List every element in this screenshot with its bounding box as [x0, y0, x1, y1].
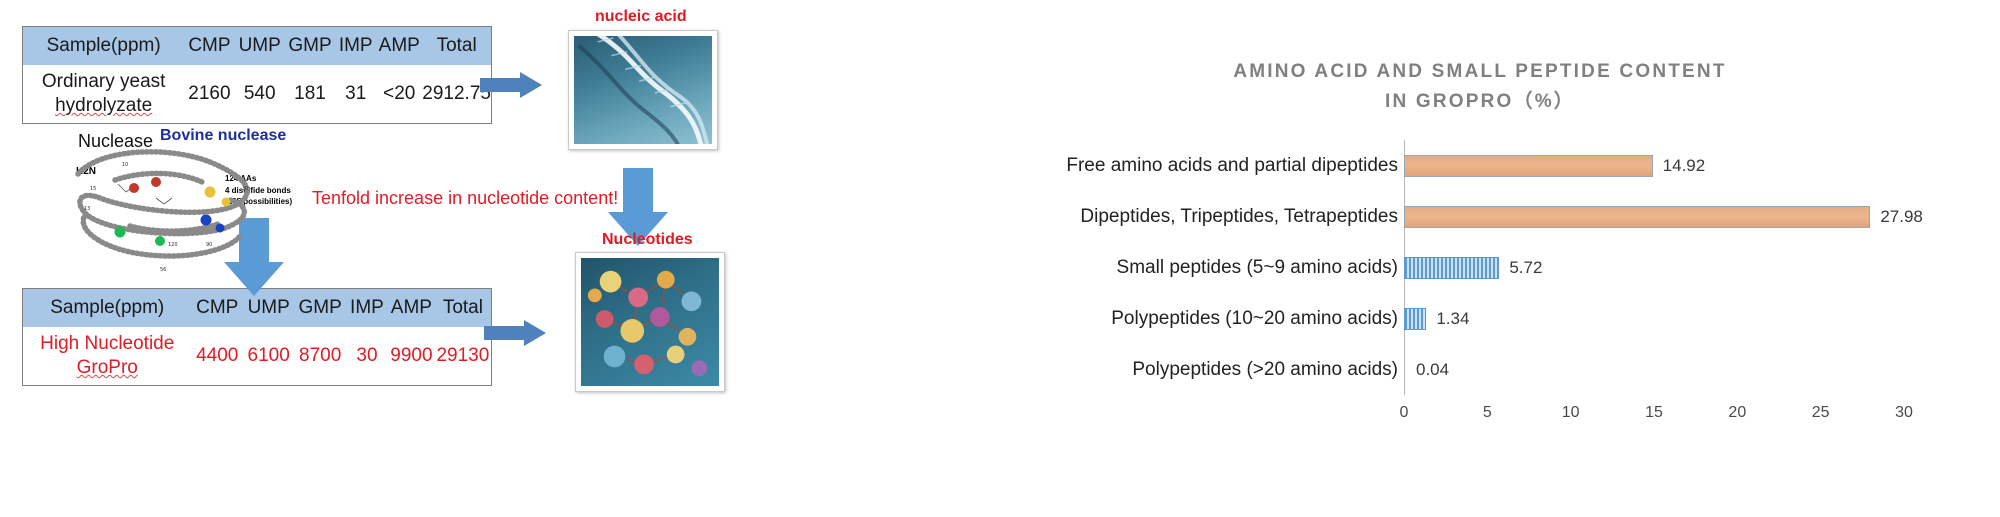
col-header-gmp: GMP	[285, 27, 335, 65]
arrow-head	[520, 72, 542, 98]
bar-row: 27.98	[1404, 191, 2000, 242]
cell-gmp: 181	[285, 65, 335, 123]
left-diagram-panel: Sample(ppm) CMP UMP GMP IMP AMP Total Or…	[0, 0, 960, 517]
chart-title: AMINO ACID AND SMALL PEPTIDE CONTENT IN …	[960, 57, 2000, 118]
svg-text:90: 90	[206, 242, 212, 248]
col-header-ump: UMP	[235, 27, 285, 65]
bar-value-label: 1.34	[1436, 309, 1469, 329]
cell-ump: 540	[235, 65, 285, 123]
cell-gmp: 8700	[294, 327, 345, 385]
cell-cmp: 2160	[184, 65, 234, 123]
label-nucleotides: Nucleotides	[602, 231, 693, 249]
col-header-imp: IMP	[346, 289, 388, 327]
bar-row: 1.34	[1404, 293, 2000, 344]
col-header-amp: AMP	[376, 27, 422, 65]
x-tick-label: 10	[1562, 404, 1580, 422]
dna-helix-image	[568, 30, 718, 150]
svg-text:10: 10	[122, 162, 128, 168]
col-header-gmp: GMP	[294, 289, 345, 327]
nucleotides-image	[575, 252, 725, 392]
nuclease-structure-icon: 10 15 13 120 90 30 56	[60, 140, 290, 275]
bar-row: 5.72	[1404, 242, 2000, 293]
category-label: Polypeptides (10~20 amino acids)	[960, 308, 1398, 330]
dna-helix-icon	[574, 36, 712, 144]
category-axis-labels: Free amino acids and partial dipeptidesD…	[960, 140, 1398, 395]
sample-name-line1: High Nucleotide	[23, 332, 191, 356]
bar-value-label: 5.72	[1509, 258, 1542, 278]
cell-cmp: 4400	[191, 327, 242, 385]
cell-amp: 9900	[388, 327, 435, 385]
cell-ump: 6100	[243, 327, 294, 385]
table-ordinary-yeast-hydrolyzate: Sample(ppm) CMP UMP GMP IMP AMP Total Or…	[22, 26, 492, 124]
table-row: Ordinary yeast hydrolyzate 2160 540 181 …	[23, 65, 491, 123]
cell-sample-name: Ordinary yeast hydrolyzate	[23, 65, 184, 123]
col-header-amp: AMP	[388, 289, 435, 327]
svg-text:13: 13	[84, 206, 90, 212]
col-header-cmp: CMP	[184, 27, 234, 65]
bar-value-label: 0.04	[1416, 360, 1449, 380]
chart-title-line2: IN GROPRO（%）	[960, 87, 2000, 117]
category-label: Polypeptides (>20 amino acids)	[960, 359, 1398, 381]
bar-value-label: 14.92	[1663, 156, 1706, 176]
table-high-nucleotide-gropro: Sample(ppm) CMP UMP GMP IMP AMP Total Hi…	[22, 288, 492, 386]
table-row: High Nucleotide GroPro 4400 6100 8700 30…	[23, 327, 491, 385]
x-tick-label: 15	[1645, 404, 1663, 422]
col-header-sample: Sample(ppm)	[23, 289, 191, 327]
category-label: Small peptides (5~9 amino acids)	[960, 257, 1398, 279]
category-label: Dipeptides, Tripeptides, Tetrapeptides	[960, 206, 1398, 228]
chart-plot-area: Free amino acids and partial dipeptidesD…	[960, 140, 2000, 440]
nucleotides-graphic	[581, 258, 719, 386]
dna-helix-graphic	[574, 36, 712, 144]
col-header-imp: IMP	[335, 27, 376, 65]
col-header-total: Total	[435, 289, 491, 327]
cell-amp: <20	[376, 65, 422, 123]
bar-value-label: 27.98	[1880, 207, 1923, 227]
bar-chart-panel: AMINO ACID AND SMALL PEPTIDE CONTENT IN …	[960, 0, 2000, 517]
bar-row: 14.92	[1404, 140, 2000, 191]
arrow-right-icon	[484, 320, 546, 346]
bar[interactable]	[1404, 257, 1499, 279]
svg-text:30: 30	[242, 186, 248, 192]
bar-row: 0.04	[1404, 344, 2000, 395]
bar[interactable]	[1404, 308, 1426, 330]
x-tick-label: 5	[1483, 404, 1492, 422]
sample-name-line1: Ordinary yeast	[23, 70, 184, 94]
sample-name-line2: GroPro	[23, 356, 191, 380]
col-header-sample: Sample(ppm)	[23, 27, 184, 65]
cell-sample-name: High Nucleotide GroPro	[23, 327, 191, 385]
bars-container: 14.9227.985.721.340.04	[1404, 140, 2000, 395]
x-tick-label: 0	[1400, 404, 1409, 422]
svg-text:15: 15	[90, 186, 96, 192]
svg-text:120: 120	[168, 242, 178, 248]
sample-name-line2: hydrolyzate	[23, 94, 184, 118]
label-nucleic-acid: nucleic acid	[595, 8, 687, 26]
arrow-shaft	[480, 78, 522, 92]
label-tenfold-increase: Tenfold increase in nucleotide content!	[312, 188, 618, 209]
molecules-icon	[581, 258, 719, 386]
arrow-head	[524, 320, 546, 346]
arrow-shaft	[623, 168, 653, 214]
chart-title-line1: AMINO ACID AND SMALL PEPTIDE CONTENT	[960, 57, 2000, 87]
x-tick-label: 25	[1812, 404, 1830, 422]
table-header-row: Sample(ppm) CMP UMP GMP IMP AMP Total	[23, 27, 491, 65]
cell-total: 29130	[435, 327, 491, 385]
x-axis: 051015202530	[1404, 398, 2000, 428]
col-header-total: Total	[422, 27, 491, 65]
bar[interactable]	[1404, 155, 1653, 177]
x-tick-label: 20	[1728, 404, 1746, 422]
svg-text:56: 56	[160, 267, 166, 273]
category-label: Free amino acids and partial dipeptides	[960, 155, 1398, 177]
arrow-shaft	[484, 326, 526, 340]
x-tick-label: 30	[1895, 404, 1913, 422]
arrow-right-icon	[480, 72, 542, 98]
bar[interactable]	[1404, 206, 1870, 228]
cell-imp: 30	[346, 327, 388, 385]
cell-imp: 31	[335, 65, 376, 123]
